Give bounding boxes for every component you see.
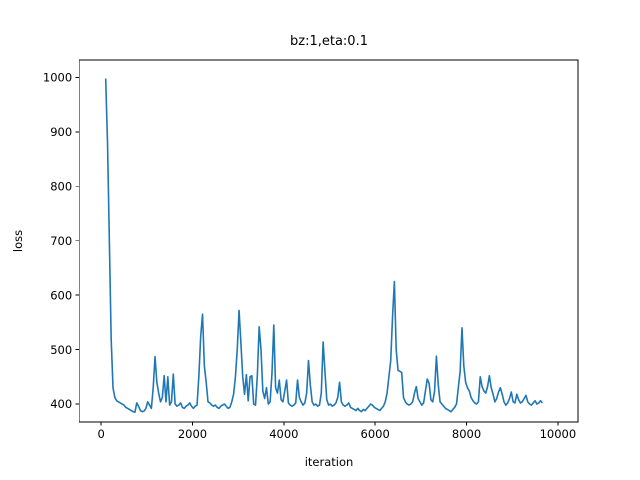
x-tick-label: 4000 [269,427,298,441]
x-tick-label: 6000 [361,427,390,441]
y-tick-label: 400 [50,397,72,411]
y-tick-label: 900 [50,125,72,139]
x-axis-label: iteration [305,455,354,469]
y-tick-label: 800 [50,179,72,193]
y-tick-label: 500 [50,343,72,357]
x-tick-label: 2000 [178,427,207,441]
y-tick-label: 600 [50,288,72,302]
y-axis-label: loss [11,230,25,252]
loss-vs-iteration-line-chart: bz:1,eta:0.1 loss iteration 400500600700… [0,0,640,480]
x-tick-label: 0 [97,427,104,441]
x-tick-label: 10000 [540,427,577,441]
x-tick-label: 8000 [452,427,481,441]
chart-title: bz:1,eta:0.1 [290,34,368,49]
y-tick-label: 1000 [43,71,72,85]
y-tick-label: 700 [50,234,72,248]
matplotlib-figure: bz:1,eta:0.1 loss iteration 400500600700… [0,0,640,480]
